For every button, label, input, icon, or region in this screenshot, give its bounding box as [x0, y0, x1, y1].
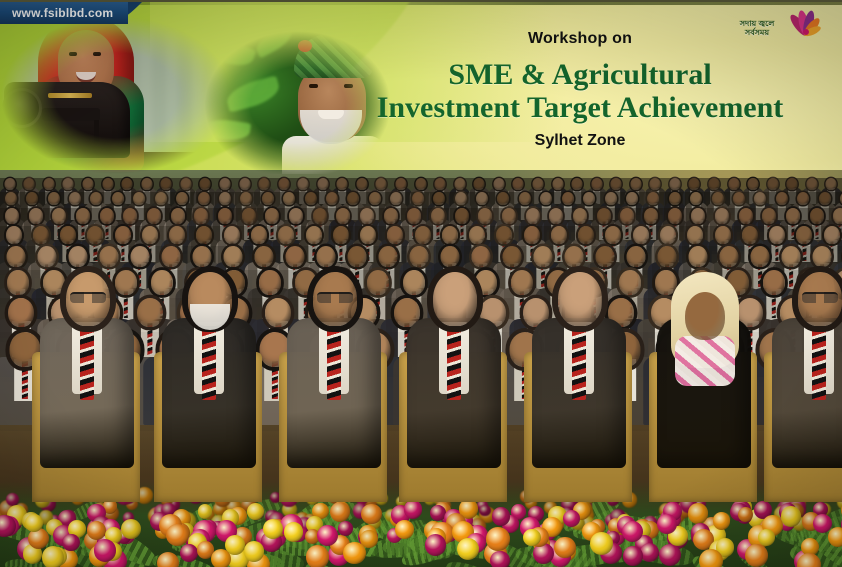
lotus-flower-mark-icon: [786, 8, 826, 48]
flower-bloom: [395, 520, 413, 538]
flower-bloom: [745, 544, 768, 567]
sewing-machine-wheel: [2, 88, 42, 128]
flower-bloom: [486, 527, 509, 550]
flower-bloom: [317, 525, 338, 546]
flower-bloom: [62, 534, 80, 552]
front-row-head: [685, 292, 725, 340]
sewing-machine-needle: [94, 120, 99, 142]
website-url-tab[interactable]: www.fsiblbd.com: [0, 2, 128, 24]
front-row-member: [150, 266, 268, 516]
farmer-eye-left: [309, 84, 318, 88]
flower-bloom: [166, 524, 189, 547]
front-row-member: [395, 266, 513, 516]
flower-bloom: [6, 493, 19, 506]
eyeglasses-icon: [70, 292, 106, 303]
flower-bloom: [623, 546, 643, 566]
flower-bloom: [121, 519, 141, 539]
striped-necktie: [447, 326, 461, 400]
flower-bloom: [699, 549, 723, 567]
conference-hall-photo: [0, 170, 842, 567]
flower-bloom: [590, 532, 613, 555]
flower-bloom: [42, 546, 65, 567]
striped-necktie: [812, 326, 826, 400]
striped-necktie: [80, 326, 94, 400]
event-poster: www.fsiblbd.com: [0, 0, 842, 567]
flower-bloom: [425, 534, 446, 555]
flower-bloom: [343, 542, 365, 564]
sewing-machine-arm: [42, 108, 100, 121]
front-row-member: [28, 266, 146, 516]
website-url-text: www.fsiblbd.com: [12, 6, 113, 20]
cap-ornament: [298, 40, 312, 52]
woman-eye-right: [93, 52, 101, 56]
sewing-machine-decal: [48, 93, 92, 98]
logo-tagline-line-2: সর্বসময়: [728, 28, 786, 37]
poster-banner: www.fsiblbd.com: [0, 2, 842, 174]
flower-bloom: [523, 529, 540, 546]
front-row-member: [520, 266, 638, 516]
patterned-scarf: [675, 336, 735, 386]
flower-bloom: [87, 521, 106, 540]
flower-bloom: [25, 514, 43, 532]
striped-necktie: [202, 326, 216, 400]
eyeglasses-icon: [802, 292, 838, 303]
front-row-member: [760, 266, 842, 516]
woman-eye-left: [69, 52, 77, 56]
flower-bloom: [306, 545, 330, 567]
workshop-title-line-1: SME & Agricultural: [330, 58, 830, 91]
striped-necktie: [572, 326, 586, 400]
fsibl-logo[interactable]: সদায় জ্বলে সর্বসময়: [728, 6, 828, 50]
logo-tagline: সদায় জ্বলে সর্বসময়: [728, 19, 786, 37]
flower-bloom: [180, 544, 198, 562]
flower-bloom: [244, 541, 265, 562]
flower-bloom: [94, 539, 116, 561]
front-row-head: [558, 272, 602, 326]
workshop-title-line-2: Investment Target Achievement: [330, 91, 830, 124]
eyeglasses-icon: [317, 292, 353, 303]
front-row-member: [275, 266, 393, 516]
flower-bloom: [211, 549, 231, 567]
workshop-zone-subtitle: Sylhet Zone: [330, 132, 830, 150]
flower-bloom: [828, 527, 842, 547]
front-row-head: [433, 272, 477, 326]
striped-necktie: [327, 326, 341, 400]
front-row-member: [645, 266, 763, 516]
flower-bloom: [338, 521, 353, 536]
logo-tagline-line-1: সদায় জ্বলে: [728, 19, 786, 28]
flower-bloom: [554, 537, 575, 558]
